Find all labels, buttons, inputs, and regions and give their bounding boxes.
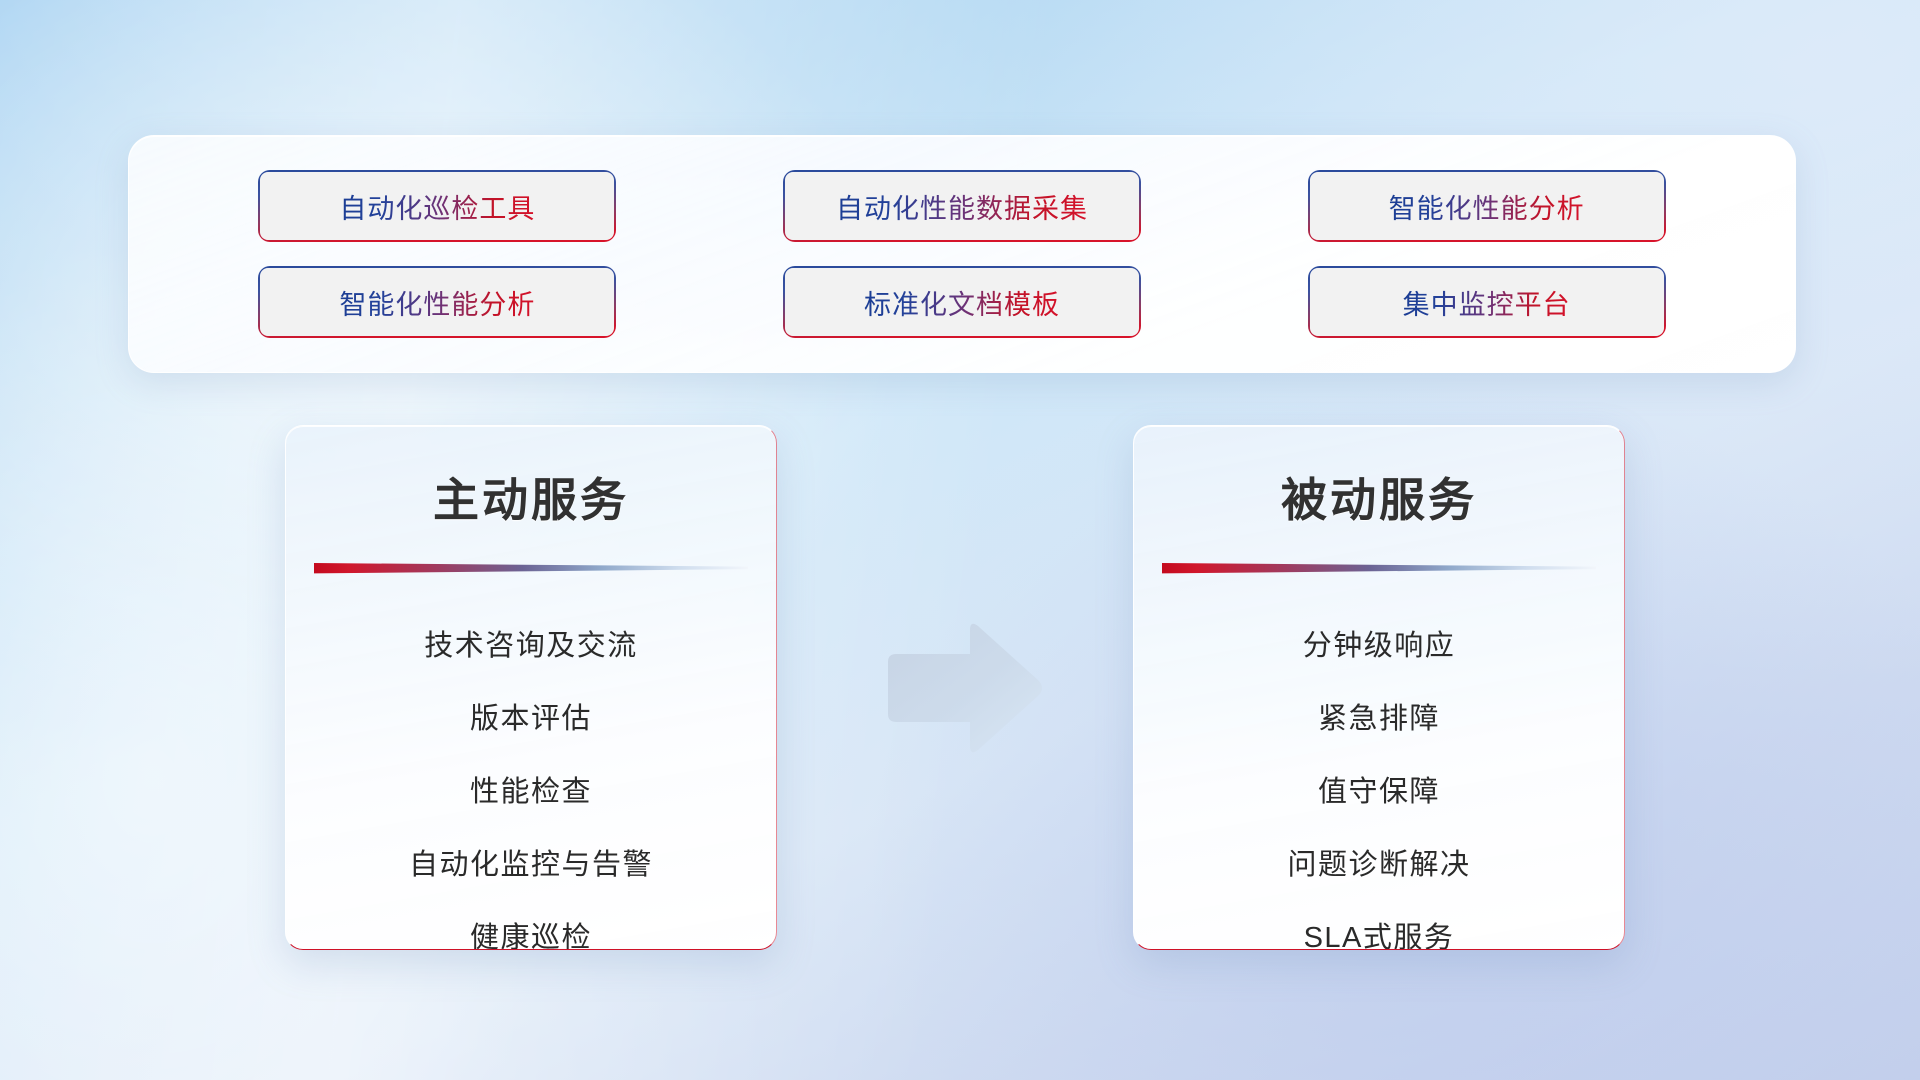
- service-list-item: 版本评估: [286, 683, 776, 756]
- capability-tag-label: 智能化性能分析: [339, 283, 535, 322]
- capability-tag-intelligent-performance-analysis-1[interactable]: 智能化性能分析: [1308, 170, 1666, 242]
- service-item-list: 技术咨询及交流 版本评估 性能检查 自动化监控与告警 健康巡检: [286, 610, 776, 950]
- capability-tag-label: 标准化文档模板: [864, 283, 1060, 322]
- service-list-item: 自动化监控与告警: [286, 829, 776, 902]
- service-list-item: 分钟级响应: [1134, 610, 1624, 683]
- capability-tag-intelligent-performance-analysis-2[interactable]: 智能化性能分析: [258, 266, 616, 338]
- capabilities-panel: 自动化巡检工具 自动化性能数据采集 智能化性能分析 智能化性能分析 标准化文档模…: [128, 135, 1796, 373]
- service-list-item: 紧急排障: [1134, 683, 1624, 756]
- service-item-list: 分钟级响应 紧急排障 值守保障 问题诊断解决 SLA式服务: [1134, 610, 1624, 950]
- capability-tag-standardized-document-template[interactable]: 标准化文档模板: [783, 266, 1141, 338]
- diagram-canvas: 自动化巡检工具 自动化性能数据采集 智能化性能分析 智能化性能分析 标准化文档模…: [0, 0, 1920, 1080]
- card-divider: [1162, 560, 1596, 576]
- service-list-item: 问题诊断解决: [1134, 829, 1624, 902]
- capability-tag-label: 自动化巡检工具: [339, 187, 535, 226]
- card-divider: [314, 560, 748, 576]
- capability-tag-centralized-monitoring-platform[interactable]: 集中监控平台: [1308, 266, 1666, 338]
- service-list-item: SLA式服务: [1134, 902, 1624, 950]
- service-list-item: 值守保障: [1134, 756, 1624, 829]
- service-card-proactive: 主动服务 技术咨询及交流 版本评估: [285, 425, 777, 950]
- card-title: 被动服务: [1134, 464, 1624, 530]
- service-list-item: 技术咨询及交流: [286, 610, 776, 683]
- capability-tag-label: 自动化性能数据采集: [836, 187, 1088, 226]
- card-title: 主动服务: [286, 464, 776, 530]
- service-card-reactive: 被动服务 分钟级响应 紧急排障: [1133, 425, 1625, 950]
- capability-tag-label: 集中监控平台: [1403, 283, 1571, 322]
- capability-tag-label: 智能化性能分析: [1389, 187, 1585, 226]
- right-arrow-icon: [878, 618, 1046, 758]
- capability-tag-automated-performance-data-collection[interactable]: 自动化性能数据采集: [783, 170, 1141, 242]
- service-list-item: 性能检查: [286, 756, 776, 829]
- tapered-divider-icon: [1162, 560, 1596, 576]
- capability-tag-automated-inspection-tool[interactable]: 自动化巡检工具: [258, 170, 616, 242]
- tapered-divider-icon: [314, 560, 748, 576]
- service-list-item: 健康巡检: [286, 902, 776, 950]
